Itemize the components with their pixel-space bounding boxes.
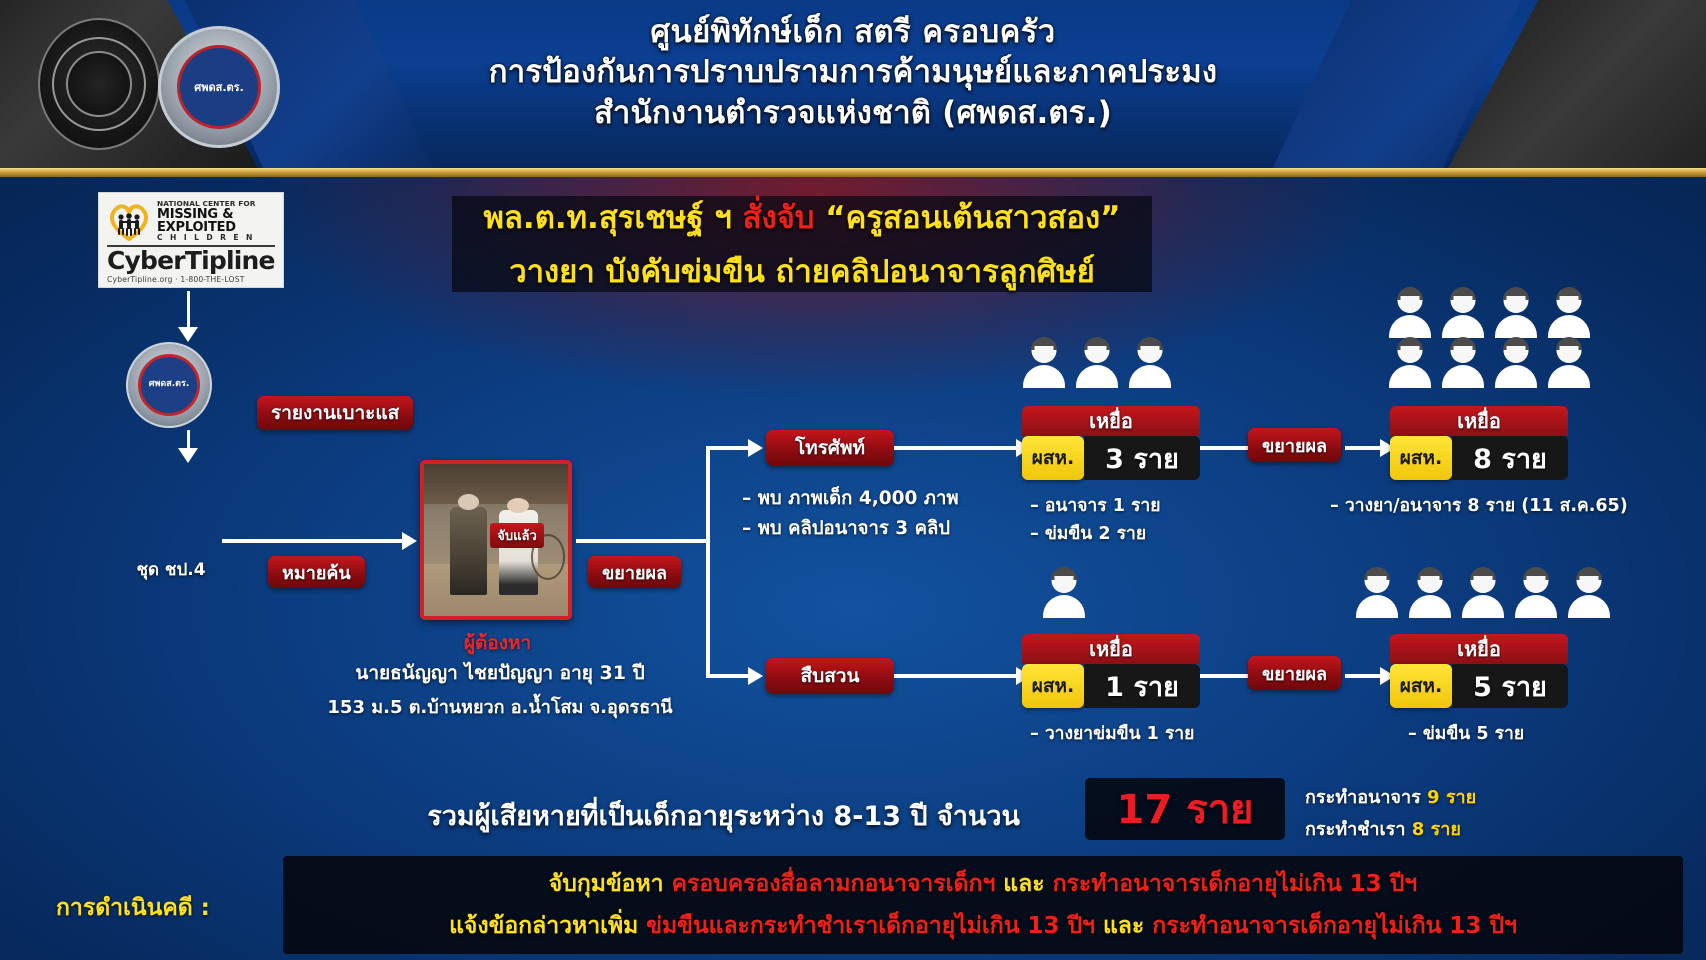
arrow-line-victim3-to-expand [1200,446,1250,450]
person-icon [1128,338,1172,388]
victim-count: 3 ราย [1084,436,1200,480]
person-icon [1494,288,1538,338]
expand-result-label-1: ขยายผล [588,556,681,588]
summary-indecent-label: กระทำอนาจาร [1305,787,1421,808]
person-icon [1042,568,1086,618]
victim-avatars-8-row2 [1388,338,1591,388]
victim-notes-1: – วางยาข่มขืน 1 ราย [1030,720,1194,748]
victim-notes-3: – อนาจาร 1 ราย – ข่มขืน 2 ราย [1030,492,1160,548]
search-warrant-label: หมายค้น [268,556,365,588]
victim-avatars-1 [1042,568,1086,618]
victim-note: – ข่มขืน 2 ราย [1030,520,1160,548]
ncmec-line-4: C H I L D R E N [157,234,256,242]
arrowhead-tcwap-to-ticac [178,448,198,463]
expand-result-label-2: ขยายผล [1248,428,1341,462]
arrow-line-expand-to-victim8 [1345,446,1385,450]
victim-note: – วางยา/อนาจาร 8 ราย (11 ส.ค.65) [1330,492,1628,520]
victim-notes-8: – วางยา/อนาจาร 8 ราย (11 ส.ค.65) [1330,492,1628,520]
charges-line-1: จับกุมข้อหา ครอบครองสื่อลามกอนาจารเด็กฯ … [549,866,1417,902]
suspect-photo: จับแล้ว [420,460,572,620]
headline-red-word: สั่งจับ [743,200,815,236]
arrow-line-investigate-to-victim3 [894,674,1022,678]
page-header: ศพดส.ตร. ศูนย์พิทักษ์เด็ก สตรี ครอบครัว … [0,0,1706,172]
victim-box-caption: เหยื่อ [1390,634,1568,664]
victim-box-3: เหยื่อ ผสห. 3 ราย [1022,406,1200,480]
victim-box-8: เหยื่อ ผสห. 8 ราย [1390,406,1568,480]
infographic-root: ศพดส.ตร. ศูนย์พิทักษ์เด็ก สตรี ครอบครัว … [0,0,1706,960]
arrowhead-branch-bottom [748,667,763,685]
title-line-2: การป้องกันการปราบปรามการค้ามนุษย์และภาคป… [380,52,1326,92]
arrow-line-logo-to-tcwap [187,291,190,331]
victim-count: 1 ราย [1084,664,1200,708]
cybertipline-name: CyberTipline [107,248,275,273]
summary-breakdown-row: กระทำชำเรา 8 ราย [1305,814,1476,846]
victim-box-caption: เหยื่อ [1022,634,1200,664]
victim-box-caption: เหยื่อ [1390,406,1568,436]
victim-note: – อนาจาร 1 ราย [1030,492,1160,520]
headline-line-2: วางยา บังคับข่มขืน ถ่ายคลิปอนาจารลูกศิษย… [509,246,1095,296]
summary-breakdown: กระทำอนาจาร 9 ราย กระทำชำเรา 8 ราย [1305,782,1476,845]
phone-finding-1: – พบ ภาพเด็ก 4,000 ภาพ [742,484,959,514]
victim-notes-5: – ข่มขืน 5 ราย [1408,720,1524,748]
branch-investigate-label: สืบสวน [766,658,894,694]
victim-count: 8 ราย [1452,436,1568,480]
person-icon [1547,288,1591,338]
expand-result-label-3: ขยายผล [1248,656,1341,690]
headline-banner: พล.ต.ท.สุรเชษฐ์ ฯ สั่งจับ “ครูสอนเต้นสาว… [452,196,1152,292]
headline-part-2: “ครูสอนเต้นสาวสอง” [814,200,1120,236]
person-icon [1388,288,1432,338]
victim-badge: ผสห. [1390,664,1452,708]
branch-line-top [706,446,754,450]
summary-breakdown-row: กระทำอนาจาร 9 ราย [1305,782,1476,814]
victim-box-caption: เหยื่อ [1022,406,1200,436]
charge-1-text-b: กระทำอนาจารเด็กอายุไม่เกิน 13 ปีฯ [1053,871,1418,897]
charge-1-prefix: จับกุมข้อหา [549,871,672,897]
arrow-line-victim1-to-expand [1200,674,1250,678]
victim-avatars-5 [1355,568,1611,618]
person-icon [1388,338,1432,388]
victim-note: – วางยาข่มขืน 1 ราย [1030,720,1194,748]
charges-panel: จับกุมข้อหา ครอบครองสื่อลามกอนาจารเด็กฯ … [283,856,1683,954]
arrowhead-branch-top [748,439,763,457]
title-line-3: สำนักงานตำรวจแห่งชาติ (ศพดส.ตร.) [380,93,1326,133]
gold-divider [0,168,1706,177]
split-vertical-line [706,446,710,678]
charges-line-2: แจ้งข้อกล่าวหาเพิ่ม ข่มขืนและกระทำชำเราเ… [449,908,1517,944]
photo-officer [450,507,487,595]
person-icon [1355,568,1399,618]
victim-badge: ผสห. [1022,664,1084,708]
person-icon [1567,568,1611,618]
branch-phone-label: โทรศัพท์ [766,430,894,466]
cybertipline-contact: CyberTipline.org · 1-800-THE-LOST [107,275,275,284]
photo-roof [424,464,568,504]
victim-note: – ข่มขืน 5 ราย [1408,720,1524,748]
title-line-1: ศูนย์พิทักษ์เด็ก สตรี ครอบครัว [380,12,1326,52]
arrowhead-ticac-to-photo [402,532,417,550]
charge-2-text-a: ข่มขืนและกระทำชำเราเด็กอายุไม่เกิน 13 ปี… [646,913,1095,939]
suspect-name: นายธนัญญา ไชยปัญญา อายุ 31 ปี [300,658,700,688]
tcwap-badge-icon: ศพดส.ตร. [126,342,212,428]
charge-1-text-a: ครอบครองสื่อลามกอนาจารเด็กฯ [672,871,996,897]
summary-text: รวมผู้เสียหายที่เป็นเด็กอายุระหว่าง 8-13… [420,794,1020,837]
person-icon [1514,568,1558,618]
person-icon [1461,568,1505,618]
arrested-tag: จับแล้ว [490,523,544,548]
ncmec-line-3: EXPLOITED [157,221,256,234]
summary-total-value: 17 ราย [1117,777,1254,841]
victim-badge: ผสห. [1390,436,1452,480]
person-icon [1494,338,1538,388]
suspect-address: 153 ม.5 ต.บ้านหยวก อ.น้ำโสม จ.อุดรธานี [295,692,705,721]
headline-line-1: พล.ต.ท.สุรเชษฐ์ ฯ สั่งจับ “ครูสอนเต้นสาว… [484,192,1121,242]
suspect-title: ผู้ต้องหา [360,628,635,658]
phone-findings-list: – พบ ภาพเด็ก 4,000 ภาพ – พบ คลิปอนาจาร 3… [742,484,959,544]
tcwap-emblem-label: ศพดส.ตร. [177,45,261,129]
person-icon [1408,568,1452,618]
arrow-line-expand-to-victim5 [1345,674,1385,678]
charge-1-conj: และ [995,871,1052,897]
phone-finding-2: – พบ คลิปอนาจาร 3 คลิป [742,514,959,544]
cybertipline-logo: NATIONAL CENTER FOR MISSING & EXPLOITED … [98,192,284,288]
person-icon [1547,338,1591,388]
victim-avatars-8-row1 [1388,288,1591,338]
victim-box-5: เหยื่อ ผสห. 5 ราย [1390,634,1568,708]
headline-part-1: พล.ต.ท.สุรเชษฐ์ ฯ [484,200,743,236]
victim-avatars-3 [1022,338,1172,388]
person-icon [1441,338,1485,388]
ticac-unit-label: ชุด ชป.4 [96,556,246,583]
summary-total-box: 17 ราย [1085,778,1285,840]
arrow-line-photo-to-split [576,539,708,543]
person-icon [1075,338,1119,388]
arrowhead-logo-to-tcwap [178,327,198,342]
person-icon [1022,338,1066,388]
tcwap-emblem-icon: ศพดส.ตร. [158,26,280,148]
summary-rape-label: กระทำชำเรา [1305,819,1405,840]
victim-badge: ผสห. [1022,436,1084,480]
victim-box-1: เหยื่อ ผสห. 1 ราย [1022,634,1200,708]
ncmec-heart-icon [107,201,151,241]
summary-indecent-value: 9 ราย [1427,787,1476,808]
victim-count: 5 ราย [1452,664,1568,708]
person-icon [1441,288,1485,338]
arrow-line-ticac-to-photo [222,539,408,543]
ncmec-line-2: MISSING & [157,208,256,221]
branch-line-bottom [706,674,754,678]
report-tip-label: รายงานเบาะแส [257,396,413,430]
arrow-line-phone-to-victim1 [894,446,1022,450]
page-title: ศูนย์พิทักษ์เด็ก สตรี ครอบครัว การป้องกั… [380,12,1326,133]
summary-rape-value: 8 ราย [1412,819,1461,840]
charge-2-conj: และ [1095,913,1152,939]
proceedings-label: การดำเนินคดี : [56,890,210,926]
royal-emblem-icon [38,18,160,150]
charge-2-prefix: แจ้งข้อกล่าวหาเพิ่ม [449,913,646,939]
charge-2-text-b: กระทำอนาจารเด็กอายุไม่เกิน 13 ปีฯ [1152,913,1517,939]
